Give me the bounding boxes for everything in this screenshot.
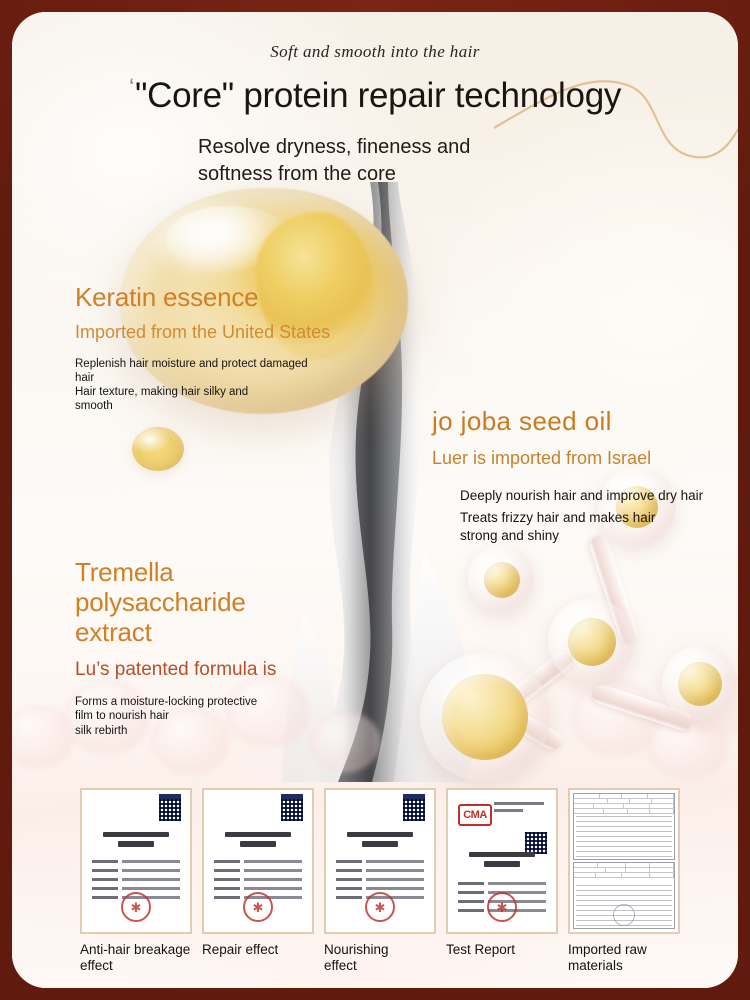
certificate-label-line-2: materials [568, 958, 680, 974]
red-seal-stamp-icon: ✱ [243, 892, 273, 922]
official-seal-icon [613, 904, 635, 926]
page-subtitle: Resolve dryness, fineness and softness f… [198, 134, 470, 188]
certificate-label: Test Report [446, 942, 558, 958]
ingredient-origin-keratin: Imported from the United States [75, 321, 330, 344]
certificate-label: Imported raw materials [568, 942, 680, 974]
certificate-card-anti-hair-breakage[interactable]: ✱ Anti-hair breakage effect [80, 788, 192, 974]
certificate-title-lines [216, 832, 300, 851]
form-section-upper [573, 793, 675, 860]
certificate-label-line-1: Imported raw [568, 942, 680, 958]
certificate-label-line-2: effect [324, 958, 436, 974]
ingredient-heading-keratin: Keratin essence [75, 282, 330, 312]
certificate-card-nourishing-effect[interactable]: ✱ Nourishing effect [324, 788, 436, 974]
ingredient-heading-line-1: Tremella polysaccharide [75, 557, 345, 617]
description-line: Hair texture, making hair silky and [75, 385, 330, 399]
red-seal-stamp-icon: ✱ [121, 892, 151, 922]
certificate-label-line-2: effect [80, 958, 192, 974]
description-line: film to nourish hair [75, 709, 345, 723]
page-title: ‘"Core" protein repair technology [12, 74, 738, 116]
description-line: silk rebirth [75, 724, 345, 738]
description-line: smooth [75, 399, 330, 413]
red-seal-stamp-icon: ✱ [487, 892, 517, 922]
certificate-gallery: ✱ Anti-hair breakage effect [80, 788, 680, 988]
page-subtitle-line-1: Resolve dryness, fineness and [198, 134, 470, 161]
ingredient-heading-line-2: extract [75, 617, 345, 647]
ingredient-origin-jojoba: Luer is imported from Israel [432, 447, 703, 470]
ingredient-description-tremella: Forms a moisture-locking protective film… [75, 695, 345, 738]
description-line: Forms a moisture-locking protective [75, 695, 345, 709]
certificate-thumbnail[interactable] [568, 788, 680, 934]
description-line: strong and shiny [460, 527, 703, 545]
certificate-title-lines [460, 852, 544, 871]
certificate-title-lines [94, 832, 178, 851]
certificate-thumbnail[interactable]: ✱ [202, 788, 314, 934]
ingredient-heading-tremella: Tremella polysaccharide extract [75, 557, 345, 647]
opening-quote-mark: ‘ [129, 74, 134, 101]
certificate-label: Nourishing effect [324, 942, 436, 974]
form-dense-lines [576, 816, 672, 857]
certificate-label-line-1: Anti-hair breakage [80, 942, 192, 958]
ingredient-block-keratin: Keratin essence Imported from the United… [75, 282, 330, 414]
ingredient-block-jojoba: jo joba seed oil Luer is imported from I… [432, 406, 703, 544]
ingredient-block-tremella: Tremella polysaccharide extract Lu’s pat… [75, 557, 345, 738]
certificate-card-imported-raw-materials[interactable]: Imported raw materials [568, 788, 680, 974]
certificate-title-lines [338, 832, 422, 851]
certificate-label: Anti-hair breakage effect [80, 942, 192, 974]
certificate-thumbnail[interactable]: ✱ [80, 788, 192, 934]
certificate-thumbnail[interactable]: CMA ✱ [446, 788, 558, 934]
certificate-label-line-1: Nourishing [324, 942, 436, 958]
page-title-text: "Core" protein repair technology [135, 76, 621, 115]
qr-code-icon [403, 799, 425, 821]
certificate-label: Repair effect [202, 942, 314, 958]
certificate-card-test-report[interactable]: CMA ✱ Test Report [446, 788, 558, 958]
certificate-label-line-1: Test Report [446, 942, 558, 958]
product-detail-poster: Soft and smooth into the hair ‘"Core" pr… [12, 12, 738, 988]
page-subtitle-line-2: softness from the core [198, 161, 470, 188]
description-line: Deeply nourish hair and improve dry hair [460, 487, 703, 505]
qr-code-icon [525, 832, 547, 854]
ingredient-origin-tremella: Lu’s patented formula is [75, 658, 345, 682]
ingredient-description-jojoba: Deeply nourish hair and improve dry hair… [460, 487, 703, 545]
qr-code-icon [281, 799, 303, 821]
ingredient-heading-jojoba: jo joba seed oil [432, 406, 703, 436]
customs-declaration-form [573, 793, 675, 929]
form-section-lower [573, 862, 675, 929]
description-line: Replenish hair moisture and protect dama… [75, 357, 330, 371]
red-seal-stamp-icon: ✱ [365, 892, 395, 922]
description-line: hair [75, 371, 330, 385]
qr-code-icon [159, 799, 181, 821]
description-line: Treats frizzy hair and makes hair [460, 509, 703, 527]
certificate-thumbnail[interactable]: ✱ [324, 788, 436, 934]
certificate-label-line-1: Repair effect [202, 942, 314, 958]
script-tagline: Soft and smooth into the hair [12, 42, 738, 62]
certificate-card-repair-effect[interactable]: ✱ Repair effect [202, 788, 314, 958]
cma-accreditation-badge-icon: CMA [458, 804, 492, 826]
ingredient-description-keratin: Replenish hair moisture and protect dama… [75, 357, 330, 414]
certificate-header-lines [494, 802, 548, 816]
